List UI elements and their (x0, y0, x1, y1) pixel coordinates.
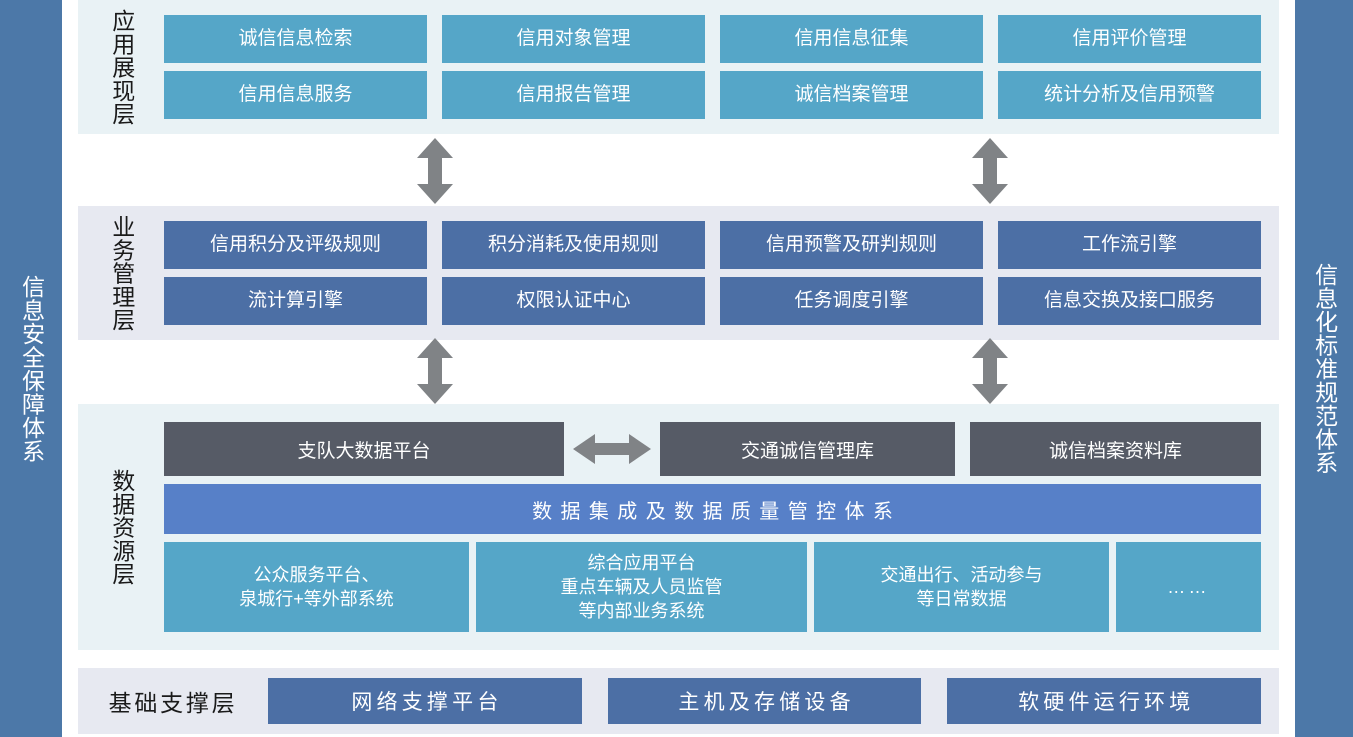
app-box-credit-report-mgmt[interactable]: 信用报告管理 (442, 71, 705, 119)
biz-box-auth-center[interactable]: 权限认证中心 (442, 277, 705, 325)
layer-application: 应用展现层 诚信信息检索 信用对象管理 信用信息征集 信用评价管理 信用信息服务… (78, 0, 1279, 134)
left-sidebar-label: 信息安全保障体系 (7, 275, 54, 463)
base-box-host-and-storage[interactable]: 主机及存储设备 (608, 678, 922, 724)
layer-business: 业务管理层 信用积分及评级规则 积分消耗及使用规则 信用预警及研判规则 工作流引… (78, 206, 1279, 340)
biz-box-score-usage-rules[interactable]: 积分消耗及使用规则 (442, 221, 705, 269)
biz-box-exchange-interface[interactable]: 信息交换及接口服务 (998, 277, 1261, 325)
app-box-credit-archive-mgmt[interactable]: 诚信档案管理 (720, 71, 983, 119)
base-cells: 网络支撑平台 主机及存储设备 软硬件运行环境 (268, 678, 1261, 724)
app-box-credit-subject-mgmt[interactable]: 信用对象管理 (442, 15, 705, 63)
data-integration-bar: 数据集成及数据质量管控体系 (164, 484, 1261, 534)
layer-base-label: 基础支撑层 (78, 684, 268, 718)
data-source-row: 公众服务平台、 泉城行+等外部系统 综合应用平台 重点车辆及人员监管 等内部业务… (164, 542, 1261, 632)
layer-data-resource: 数据资源层 支队大数据平台 交通诚信管理库 诚信档案资料库 数据集成及数据质量管… (78, 404, 1279, 650)
business-row-2: 流计算引擎 权限认证中心 任务调度引擎 信息交换及接口服务 (164, 277, 1261, 325)
app-box-credit-info-service[interactable]: 信用信息服务 (164, 71, 427, 119)
double-arrow-icon (970, 138, 1010, 204)
business-row-1: 信用积分及评级规则 积分消耗及使用规则 信用预警及研判规则 工作流引擎 (164, 221, 1261, 269)
double-arrow-icon (970, 338, 1010, 404)
db-box-big-data-platform[interactable]: 支队大数据平台 (164, 422, 564, 476)
base-box-network-platform[interactable]: 网络支撑平台 (268, 678, 582, 724)
layer-base-support: 基础支撑层 网络支撑平台 主机及存储设备 软硬件运行环境 (78, 668, 1279, 734)
database-row: 支队大数据平台 交通诚信管理库 诚信档案资料库 (164, 422, 1261, 476)
base-box-runtime-env[interactable]: 软硬件运行环境 (947, 678, 1261, 724)
layer-data-body: 支队大数据平台 交通诚信管理库 诚信档案资料库 数据集成及数据质量管控体系 公众… (164, 404, 1279, 650)
layer-business-label: 业务管理层 (106, 215, 135, 331)
app-box-credit-info-search[interactable]: 诚信信息检索 (164, 15, 427, 63)
biz-box-stream-engine[interactable]: 流计算引擎 (164, 277, 427, 325)
double-arrow-icon (415, 338, 455, 404)
layer-application-label: 应用展现层 (106, 9, 135, 125)
application-row-2: 信用信息服务 信用报告管理 诚信档案管理 统计分析及信用预警 (164, 71, 1261, 119)
left-sidebar-information-security: 信息安全保障体系 (0, 0, 62, 737)
biz-box-warning-rules[interactable]: 信用预警及研判规则 (720, 221, 983, 269)
app-box-credit-info-collect[interactable]: 信用信息征集 (720, 15, 983, 63)
source-box-daily-travel-data[interactable]: 交通出行、活动参与 等日常数据 (814, 542, 1109, 632)
main-column: 应用展现层 诚信信息检索 信用对象管理 信用信息征集 信用评价管理 信用信息服务… (62, 0, 1295, 737)
architecture-diagram: 信息安全保障体系 信息化标准规范体系 应用展现层 诚信信息检索 信用对象管理 信… (0, 0, 1353, 737)
source-box-integrated-platform[interactable]: 综合应用平台 重点车辆及人员监管 等内部业务系统 (476, 542, 807, 632)
layer-data-label-wrap: 数据资源层 (78, 404, 164, 650)
layer-application-body: 诚信信息检索 信用对象管理 信用信息征集 信用评价管理 信用信息服务 信用报告管… (164, 0, 1279, 134)
biz-box-credit-score-rules[interactable]: 信用积分及评级规则 (164, 221, 427, 269)
layer-business-label-wrap: 业务管理层 (78, 206, 164, 340)
app-box-stats-and-warning[interactable]: 统计分析及信用预警 (998, 71, 1261, 119)
layer-application-label-wrap: 应用展现层 (78, 0, 164, 134)
right-sidebar-label: 信息化标准规范体系 (1300, 263, 1347, 474)
double-arrow-icon (415, 138, 455, 204)
layer-data-label: 数据资源层 (106, 469, 135, 585)
source-box-ellipsis[interactable]: …… (1116, 542, 1261, 632)
biz-box-task-scheduler[interactable]: 任务调度引擎 (720, 277, 983, 325)
db-box-credit-archive-db[interactable]: 诚信档案资料库 (970, 422, 1261, 476)
source-box-public-service-platform[interactable]: 公众服务平台、 泉城行+等外部系统 (164, 542, 469, 632)
db-box-traffic-credit-db[interactable]: 交通诚信管理库 (660, 422, 955, 476)
right-sidebar-standards: 信息化标准规范体系 (1295, 0, 1353, 737)
app-box-credit-eval-mgmt[interactable]: 信用评价管理 (998, 15, 1261, 63)
horizontal-double-arrow-icon (564, 432, 660, 466)
application-row-1: 诚信信息检索 信用对象管理 信用信息征集 信用评价管理 (164, 15, 1261, 63)
layer-business-body: 信用积分及评级规则 积分消耗及使用规则 信用预警及研判规则 工作流引擎 流计算引… (164, 206, 1279, 340)
biz-box-workflow-engine[interactable]: 工作流引擎 (998, 221, 1261, 269)
